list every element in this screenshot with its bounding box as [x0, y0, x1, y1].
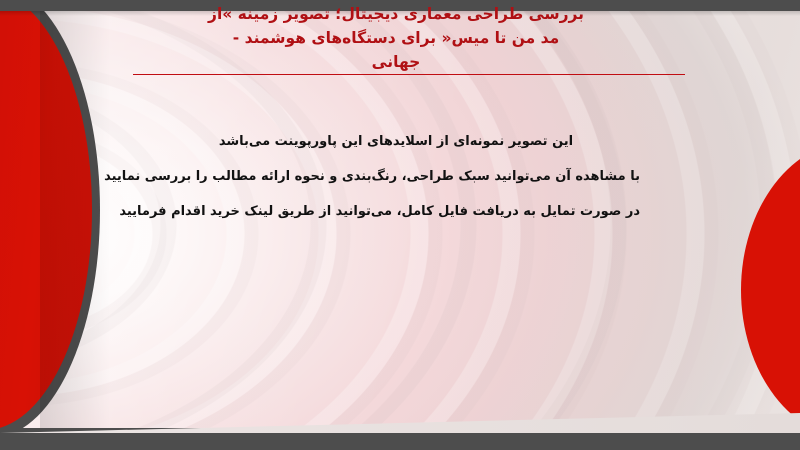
- slide-title: بررسی طراحی معماری دیجیتال؛ تصویر زمینه …: [168, 2, 624, 74]
- slide-title-line-1: بررسی طراحی معماری دیجیتال؛ تصویر زمینه …: [168, 2, 624, 26]
- slide-title-line-3: جهانی: [168, 50, 624, 74]
- slide-body-text: این تصویر نمونه‌ای از اسلایدهای این پاور…: [152, 124, 640, 229]
- presentation-slide: بررسی طراحی معماری دیجیتال؛ تصویر زمینه …: [0, 0, 800, 450]
- slide-body-line-1: این تصویر نمونه‌ای از اسلایدهای این پاور…: [152, 124, 640, 159]
- slide-body-line-2: با مشاهده آن می‌توانید سبک طراحی، رنگ‌بن…: [152, 159, 640, 194]
- slide-title-line-2: مد من تا میس« برای دستگاه‌های هوشمند -: [168, 26, 624, 50]
- slide-body-line-3: در صورت تمایل به دریافت فایل کامل، می‌تو…: [152, 194, 640, 229]
- title-underline-rule: [133, 74, 685, 75]
